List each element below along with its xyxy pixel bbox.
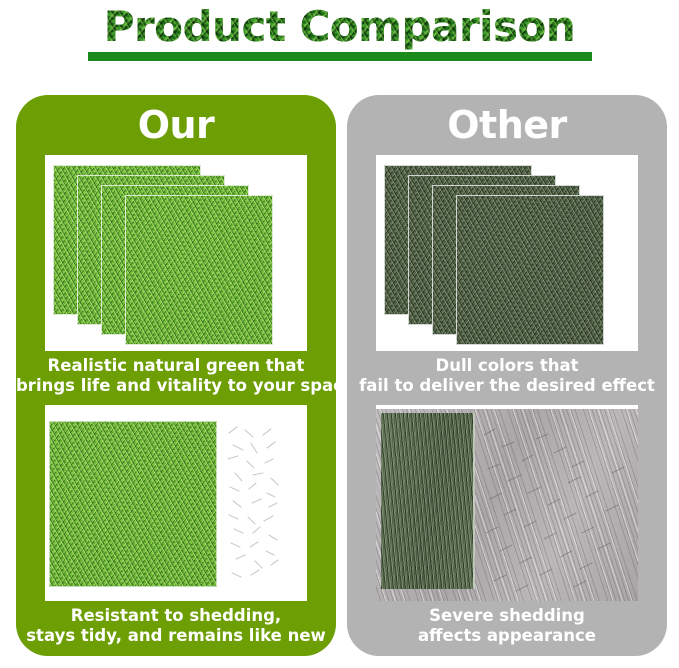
dull-grass-tile-4 <box>456 195 604 345</box>
other-caption-top-line-1: Dull colors that <box>347 356 667 376</box>
our-shedding-card <box>45 405 307 601</box>
our-caption-bottom-line-1: Resistant to shedding, <box>16 606 336 626</box>
other-caption-top-line-2: fail to deliver the desired effect <box>347 376 667 396</box>
panel-our-heading: Our <box>16 103 336 147</box>
other-stacked-tiles-card <box>376 155 638 351</box>
other-caption-bottom-line-2: affects appearance <box>347 626 667 646</box>
other-caption-bottom-line-1: Severe shedding <box>347 606 667 626</box>
other-shedding-card <box>376 405 638 601</box>
our-caption-top: Realistic natural green that brings life… <box>16 356 336 396</box>
loose-fiber-field <box>223 423 283 583</box>
title-underline <box>88 52 592 61</box>
our-caption-top-line-1: Realistic natural green that <box>16 356 336 376</box>
wood-floor <box>376 409 638 601</box>
turf-square <box>49 421 217 587</box>
our-caption-bottom-line-2: stays tidy, and remains like new <box>16 626 336 646</box>
grass-tile-4 <box>125 195 273 345</box>
panel-other: Other Dull colors that fail to deliver t… <box>347 95 667 656</box>
other-caption-bottom: Severe shedding affects appearance <box>347 606 667 646</box>
our-caption-bottom: Resistant to shedding, stays tidy, and r… <box>16 606 336 646</box>
other-caption-top: Dull colors that fail to deliver the des… <box>347 356 667 396</box>
panel-our: Our Realistic natural green that brings … <box>16 95 336 656</box>
our-caption-top-line-2: brings life and vitality to your space <box>16 376 336 396</box>
panel-other-heading: Other <box>347 103 667 147</box>
our-stacked-tiles-card <box>45 155 307 351</box>
page-title: Product Comparison <box>0 2 679 51</box>
shed-fiber-overlay <box>376 409 638 601</box>
title-block: Product Comparison <box>0 0 679 74</box>
